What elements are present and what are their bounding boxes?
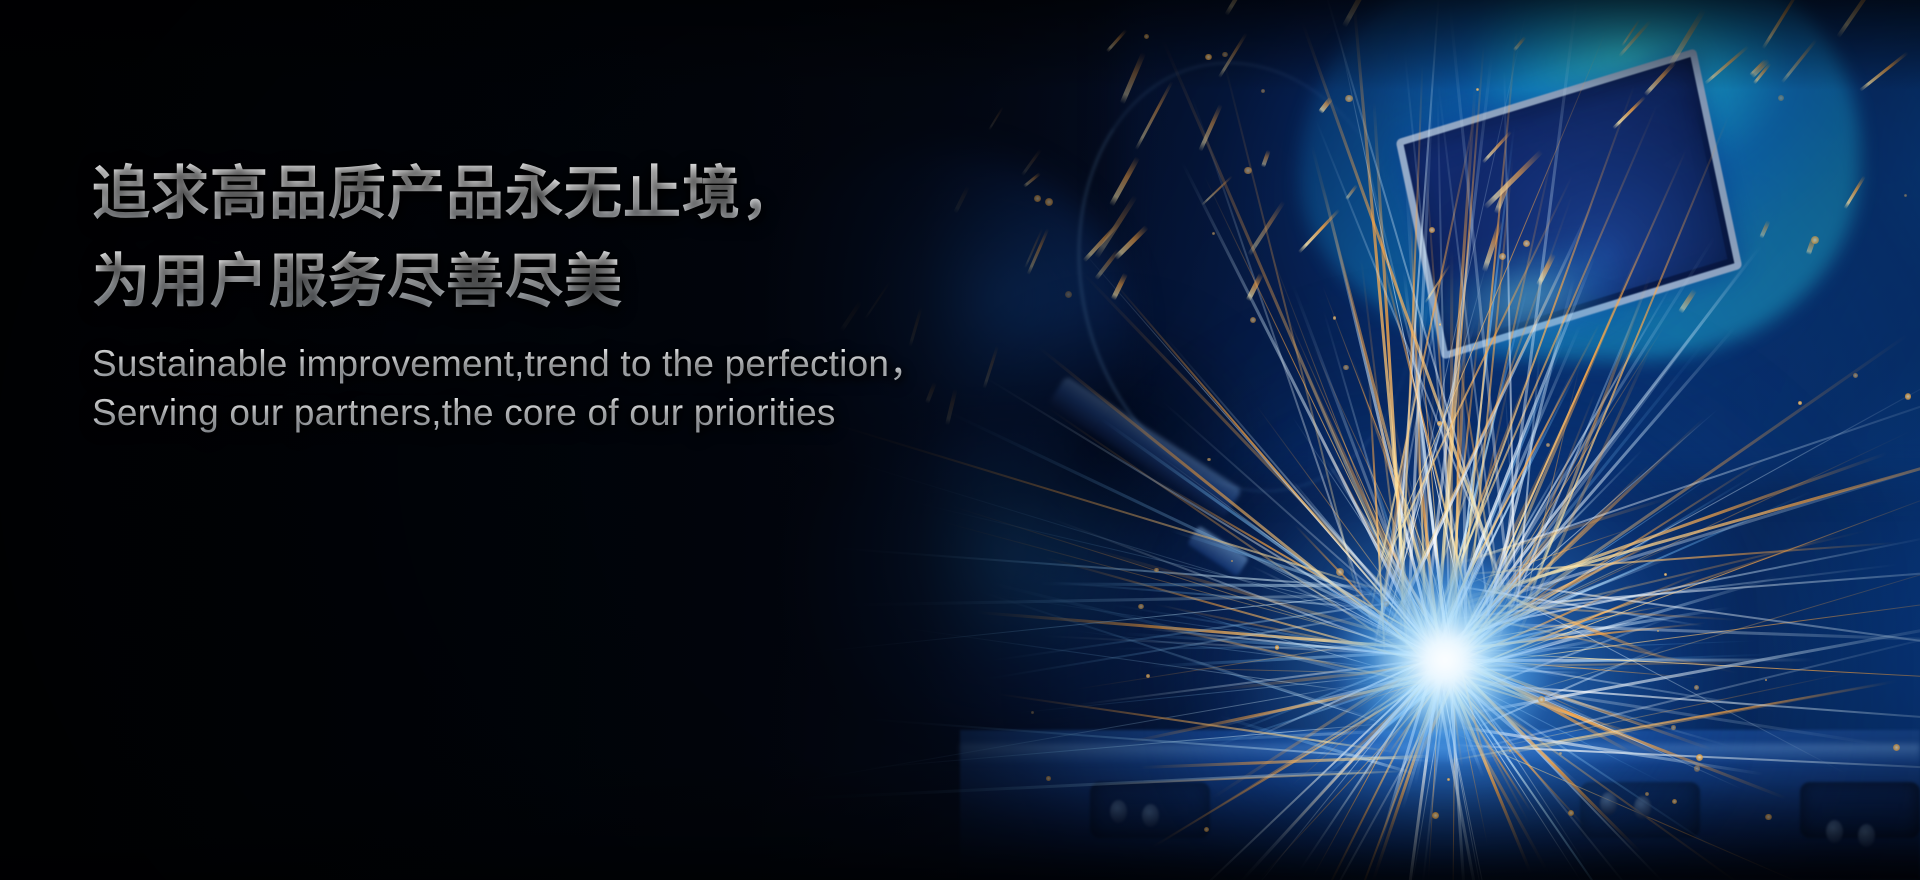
headline-line-1: 追求高品质产品永无止境， xyxy=(92,150,1092,238)
subheadline-line-1: Sustainable improvement,trend to the per… xyxy=(92,340,1092,389)
hero-subheadline: Sustainable improvement,trend to the per… xyxy=(92,340,1092,438)
hero-copy-block: 追求高品质产品永无止境， 为用户服务尽善尽美 Sustainable impro… xyxy=(92,150,1092,438)
headline-line-2: 为用户服务尽善尽美 xyxy=(92,238,1092,326)
vignette-overlay xyxy=(0,0,1920,880)
hero-headline: 追求高品质产品永无止境， 为用户服务尽善尽美 xyxy=(92,150,1092,326)
subheadline-line-2: Serving our partners,the core of our pri… xyxy=(92,389,1092,438)
hero-banner: 追求高品质产品永无止境， 为用户服务尽善尽美 Sustainable impro… xyxy=(0,0,1920,880)
